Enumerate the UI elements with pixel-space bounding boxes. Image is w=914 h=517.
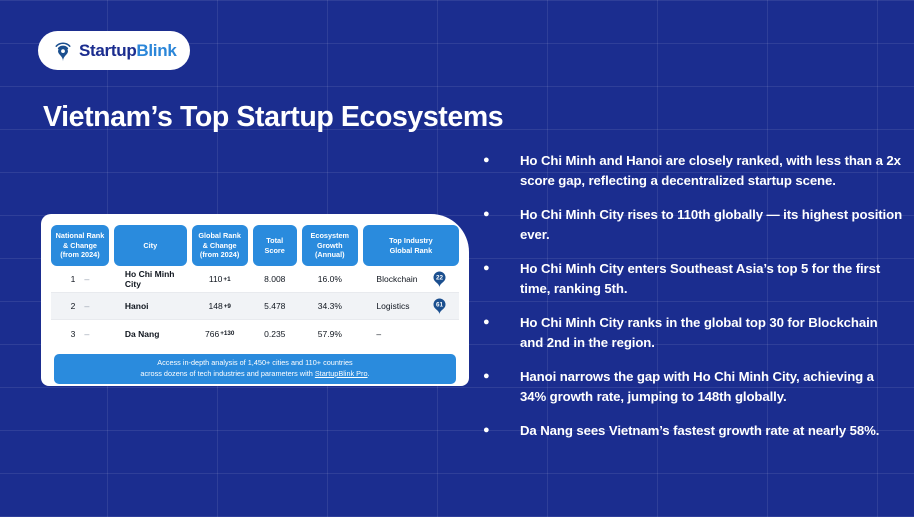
cell-top-industry: Blockchain 22: [363, 266, 459, 292]
list-item: ● Ho Chi Minh City rises to 110th global…: [483, 205, 903, 244]
list-item-text: Ho Chi Minh City ranks in the global top…: [520, 313, 903, 352]
bullet-dot-icon: ●: [483, 421, 520, 441]
startupblink-pro-cta[interactable]: Access in-depth analysis of 1,450+ citie…: [54, 354, 456, 384]
ecosystem-table-card: National Rank & Change (from 2024) City …: [41, 214, 469, 386]
list-item-text: Ho Chi Minh and Hanoi are closely ranked…: [520, 151, 903, 190]
list-item: ● Ho Chi Minh City ranks in the global t…: [483, 313, 903, 352]
insights-list: ● Ho Chi Minh and Hanoi are closely rank…: [483, 151, 903, 456]
logo-word-startup: Startup: [79, 41, 136, 60]
cell-city: Ho Chi Minh City: [114, 266, 187, 292]
industry-rank-pin-badge: 61: [432, 297, 447, 315]
column-header-top-industry: Top Industry Global Rank: [363, 225, 459, 266]
cta-line-2: across dozens of tech industries and par…: [140, 369, 369, 380]
industry-rank-pin-badge: 22: [432, 270, 447, 288]
table-row: 2 – Hanoi 148+9 5.478 34.3% Logistics 61: [51, 293, 459, 320]
cell-growth: 34.3%: [302, 293, 358, 319]
bullet-dot-icon: ●: [483, 313, 520, 352]
cell-city: Hanoi: [114, 293, 187, 319]
column-header-ecosystem-growth: Ecosystem Growth (Annual): [302, 225, 358, 266]
bullet-dot-icon: ●: [483, 205, 520, 244]
list-item: ● Hanoi narrows the gap with Ho Chi Minh…: [483, 367, 903, 406]
logo-word-blink: Blink: [136, 41, 176, 60]
bullet-dot-icon: ●: [483, 367, 520, 406]
cell-growth: 16.0%: [302, 266, 358, 292]
svg-text:61: 61: [436, 302, 444, 309]
startupblink-logo: StartupBlink: [38, 31, 190, 70]
cell-total-score: 0.235: [253, 320, 297, 347]
cell-growth: 57.9%: [302, 320, 358, 347]
column-header-national-rank: National Rank & Change (from 2024): [51, 225, 109, 266]
page-title: Vietnam’s Top Startup Ecosystems: [43, 101, 503, 134]
bullet-dot-icon: ●: [483, 151, 520, 190]
cta-line-1: Access in-depth analysis of 1,450+ citie…: [157, 358, 352, 369]
list-item-text: Ho Chi Minh City enters Southeast Asia’s…: [520, 259, 903, 298]
column-header-total-score: Total Score: [253, 225, 297, 266]
logo-wordmark: StartupBlink: [79, 41, 176, 61]
cell-top-industry: –: [363, 320, 459, 347]
cell-national-rank: 2 –: [51, 293, 109, 319]
cell-global-rank: 766+130: [192, 320, 248, 347]
startupblink-pro-link[interactable]: StartupBlink Pro: [315, 369, 368, 378]
cell-total-score: 8.008: [253, 266, 297, 292]
table-header-row: National Rank & Change (from 2024) City …: [51, 225, 459, 266]
cell-top-industry: Logistics 61: [363, 293, 459, 319]
cell-national-rank: 1 –: [51, 266, 109, 292]
location-pin-signal-icon: [53, 40, 73, 62]
svg-text:22: 22: [436, 275, 444, 282]
list-item-text: Hanoi narrows the gap with Ho Chi Minh C…: [520, 367, 903, 406]
cell-global-rank: 110+1: [192, 266, 248, 292]
cell-total-score: 5.478: [253, 293, 297, 319]
table-row: 1 – Ho Chi Minh City 110+1 8.008 16.0% B…: [51, 266, 459, 293]
table-row: 3 – Da Nang 766+130 0.235 57.9% –: [51, 320, 459, 347]
cell-national-rank: 3 –: [51, 320, 109, 347]
list-item-text: Da Nang sees Vietnam’s fastest growth ra…: [520, 421, 879, 441]
list-item: ● Ho Chi Minh City enters Southeast Asia…: [483, 259, 903, 298]
column-header-global-rank: Global Rank & Change (from 2024): [192, 225, 248, 266]
cell-global-rank: 148+9: [192, 293, 248, 319]
cell-city: Da Nang: [114, 320, 187, 347]
list-item: ● Da Nang sees Vietnam’s fastest growth …: [483, 421, 903, 441]
list-item: ● Ho Chi Minh and Hanoi are closely rank…: [483, 151, 903, 190]
column-header-city: City: [114, 225, 187, 266]
bullet-dot-icon: ●: [483, 259, 520, 298]
list-item-text: Ho Chi Minh City rises to 110th globally…: [520, 205, 903, 244]
